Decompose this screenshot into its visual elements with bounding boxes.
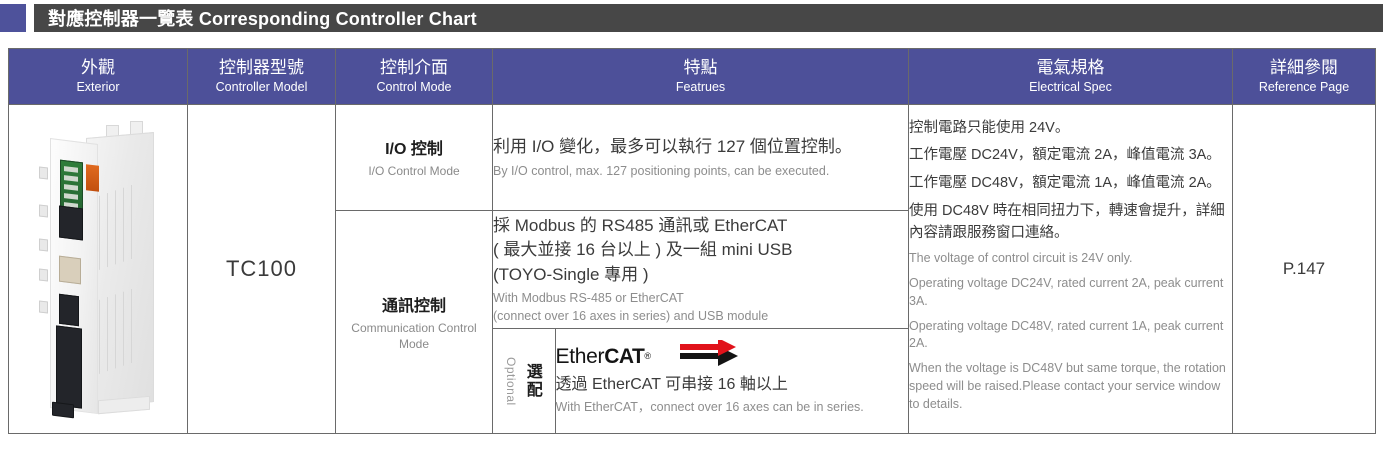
optional-label-cn: 選配 [520, 363, 544, 399]
control-mode-communication-cn: 通訊控制 [336, 292, 492, 316]
section-title-bar: 對應控制器一覽表 Corresponding Controller Chart [0, 4, 1383, 32]
column-header-model-en: Controller Model [188, 79, 335, 96]
column-header-features-en: Featrues [493, 79, 908, 96]
page-title-cn: 對應控制器一覽表 [48, 9, 194, 29]
ethercat-logo-bold: CAT [604, 345, 644, 368]
cell-reference-page: P.147 [1233, 105, 1376, 434]
column-header-features-cn: 特點 [493, 57, 908, 78]
device-led-indicator [39, 204, 48, 217]
cell-control-mode-io: I/O 控制 I/O Control Mode [336, 105, 493, 211]
ethercat-arrow-icon [678, 340, 740, 370]
electrical-spec-cn-line: 控制電路只能使用 24V。 [909, 118, 1232, 140]
electrical-spec-en-line: Operating voltage DC24V, rated current 2… [909, 275, 1232, 311]
ethercat-logo: EtherCAT® [556, 345, 909, 371]
cell-features-io: 利用 I/O 變化，最多可以執行 127 個位置控制。 By I/O contr… [493, 105, 909, 211]
column-header-control-mode-cn: 控制介面 [336, 57, 492, 78]
column-header-electrical-spec-en: Electrical Spec [909, 79, 1232, 96]
electrical-spec-en-line: The voltage of control circuit is 24V on… [909, 250, 1232, 268]
column-header-reference-page-en: Reference Page [1233, 79, 1375, 96]
cell-electrical-spec: 控制電路只能使用 24V。 工作電壓 DC24V，額定電流 2A，峰值電流 3A… [909, 105, 1233, 434]
features-communication-en-line: With Modbus RS-485 or EtherCAT [493, 290, 908, 308]
ethercat-text-en: With EtherCAT，connect over 16 axes can b… [556, 399, 909, 417]
page-title-en: Corresponding Controller Chart [199, 9, 477, 29]
device-led-indicator [39, 238, 48, 251]
device-lower-connector [56, 325, 82, 408]
optional-ethercat-layout: 選配 Optional EtherCAT® [493, 329, 908, 433]
electrical-spec-cn-line: 工作電壓 DC24V，額定電流 2A，峰值電流 3A。 [909, 145, 1232, 167]
cell-features-communication: 採 Modbus 的 RS485 通訊或 EtherCAT ( 最大並接 16 … [493, 211, 909, 329]
column-header-exterior: 外觀 Exterior [9, 49, 188, 105]
electrical-spec-en-line: Operating voltage DC48V, rated current 1… [909, 318, 1232, 354]
ethercat-content-cell: EtherCAT® 透過 EtherCAT 可串接 16 軸以上 With Et… [555, 329, 908, 433]
table-row: TC100 I/O 控制 I/O Control Mode 利用 I/O 變化，… [9, 105, 1376, 211]
column-header-model-cn: 控制器型號 [188, 57, 335, 78]
column-header-electrical-spec-cn: 電氣規格 [909, 57, 1232, 78]
features-communication-cn-line: ( 最大並接 16 台以上 ) 及一組 mini USB [493, 238, 908, 263]
column-header-control-mode-en: Control Mode [336, 79, 492, 96]
ethercat-logo-light: Ether [556, 345, 605, 368]
features-communication-en-line: (connect over 16 axes in series) and USB… [493, 308, 908, 326]
column-header-reference-page: 詳細參閱 Reference Page [1233, 49, 1376, 105]
reference-page-value: P.147 [1233, 259, 1375, 279]
optional-label-cell: 選配 Optional [493, 329, 555, 433]
column-header-control-mode: 控制介面 Control Mode [336, 49, 493, 105]
device-led-indicator [39, 300, 48, 313]
features-io-en: By I/O control, max. 127 positioning poi… [493, 163, 908, 181]
column-header-exterior-cn: 外觀 [9, 57, 187, 78]
control-mode-io-en: I/O Control Mode [336, 163, 492, 179]
electrical-spec-cn-line: 工作電壓 DC48V，額定電流 1A，峰值電流 2A。 [909, 173, 1232, 195]
controller-model-value: TC100 [188, 256, 335, 282]
controller-chart-table: 外觀 Exterior 控制器型號 Controller Model 控制介面 … [8, 48, 1376, 434]
page-title: 對應控制器一覽表 Corresponding Controller Chart [48, 5, 477, 31]
features-communication-cn-line: (TOYO-Single 專用 ) [493, 263, 908, 288]
control-mode-io-cn: I/O 控制 [336, 135, 492, 159]
electrical-spec-cn-line: 使用 DC48V 時在相同扭力下，轉速會提升，詳細內容請跟服務窗口連絡。 [909, 201, 1232, 245]
device-connector-port [59, 206, 83, 241]
ethercat-text-cn: 透過 EtherCAT 可串接 16 軸以上 [556, 373, 909, 396]
cell-control-mode-communication: 通訊控制 Communication Control Mode [336, 211, 493, 434]
table-header-row: 外觀 Exterior 控制器型號 Controller Model 控制介面 … [9, 49, 1376, 105]
cell-exterior-image [9, 105, 188, 434]
device-led-indicator [39, 166, 48, 179]
control-mode-communication-en: Communication Control Mode [336, 320, 492, 352]
title-strip: 對應控制器一覽表 Corresponding Controller Chart [34, 4, 1383, 32]
device-led-indicator [39, 268, 48, 281]
device-orange-terminal-block [86, 164, 99, 192]
title-gap [26, 4, 34, 32]
column-header-features: 特點 Featrues [493, 49, 909, 105]
column-header-model: 控制器型號 Controller Model [188, 49, 336, 105]
cell-optional-ethercat: 選配 Optional EtherCAT® [493, 329, 909, 434]
column-header-electrical-spec: 電氣規格 Electrical Spec [909, 49, 1233, 105]
device-connector-port [59, 294, 79, 326]
optional-label-en: Optional [504, 357, 518, 406]
controller-device-illustration [34, 119, 162, 419]
device-beige-connector [59, 256, 81, 285]
column-header-exterior-en: Exterior [9, 79, 187, 96]
device-usb-port [52, 402, 74, 419]
electrical-spec-en-line: When the voltage is DC48V but same torqu… [909, 360, 1232, 413]
ethercat-registered-mark: ® [644, 351, 650, 361]
optional-label-group: 選配 Optional [504, 329, 544, 433]
title-accent-swatch [0, 4, 26, 32]
ethercat-logo-text: EtherCAT® [556, 345, 651, 368]
cell-controller-model: TC100 [188, 105, 336, 434]
column-header-reference-page-cn: 詳細參閱 [1233, 57, 1375, 78]
features-communication-cn-line: 採 Modbus 的 RS485 通訊或 EtherCAT [493, 214, 908, 239]
features-io-cn: 利用 I/O 變化，最多可以執行 127 個位置控制。 [493, 135, 908, 160]
